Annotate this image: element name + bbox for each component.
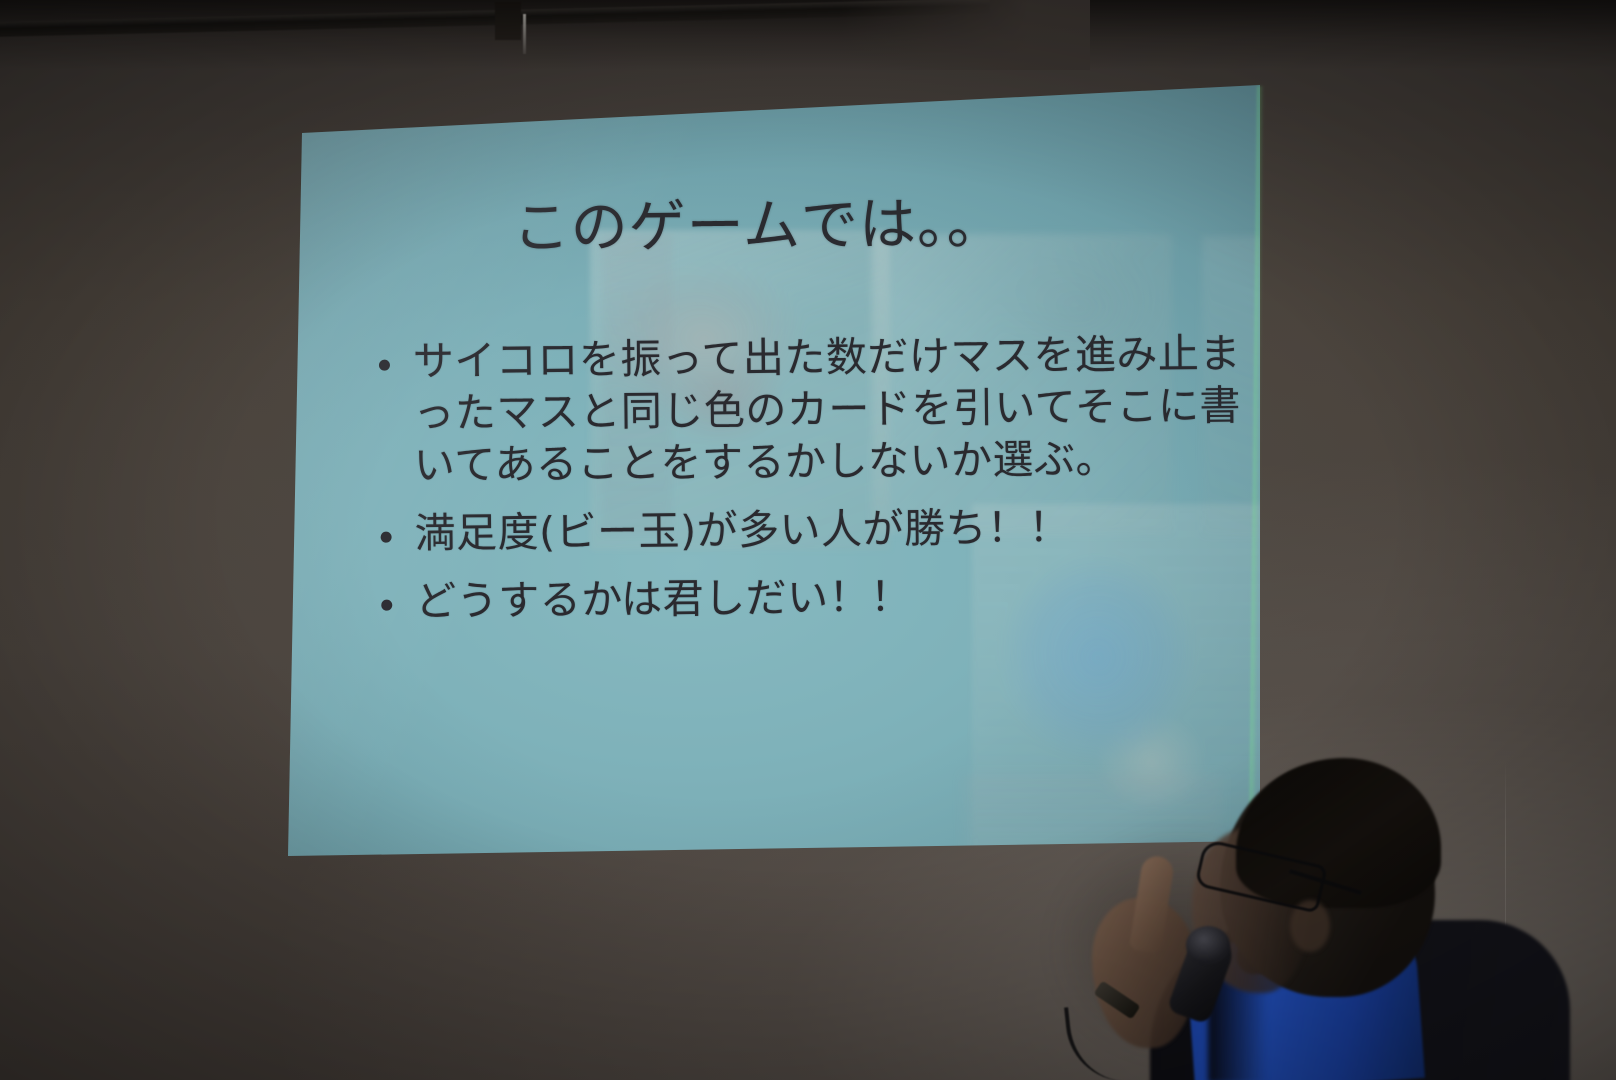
slide-bullet-list: サイコロを振って出た数だけマスを進み止まったマスと同じ色のカードを引いてそこに書… <box>371 327 1254 644</box>
pipe-fade-overlay <box>840 0 1090 70</box>
slide-title: このゲームでは。。 <box>512 195 1033 257</box>
pipe-bracket <box>495 2 521 40</box>
bullet-text-2: 満足度(ビー玉)が多い人が勝ち！！ <box>414 500 1252 560</box>
bullet-text-3: どうするかは君しだい！！ <box>415 568 1253 628</box>
bullet-dot-icon <box>381 600 392 611</box>
bullet-dot-icon <box>379 359 390 370</box>
microphone-icon <box>1186 926 1230 964</box>
projected-slide-photo: このゲームでは。。 サイコロを振って出た数だけマスを進み止まったマスと同じ色のカ… <box>0 0 1616 1080</box>
bullet-item-3: どうするかは君しだい！！ <box>373 568 1253 629</box>
hanging-cord <box>523 14 526 54</box>
presenter <box>1040 740 1616 1080</box>
bullet-dot-icon <box>381 532 392 543</box>
bullet-text-1: サイコロを振って出た数だけマスを進み止まったマスと同じ色のカードを引いてそこに書… <box>413 327 1252 491</box>
bullet-item-1: サイコロを振って出た数だけマスを進み止まったマスと同じ色のカードを引いてそこに書… <box>371 327 1252 492</box>
bullet-item-2: 満足度(ビー玉)が多い人が勝ち！！ <box>372 500 1252 561</box>
